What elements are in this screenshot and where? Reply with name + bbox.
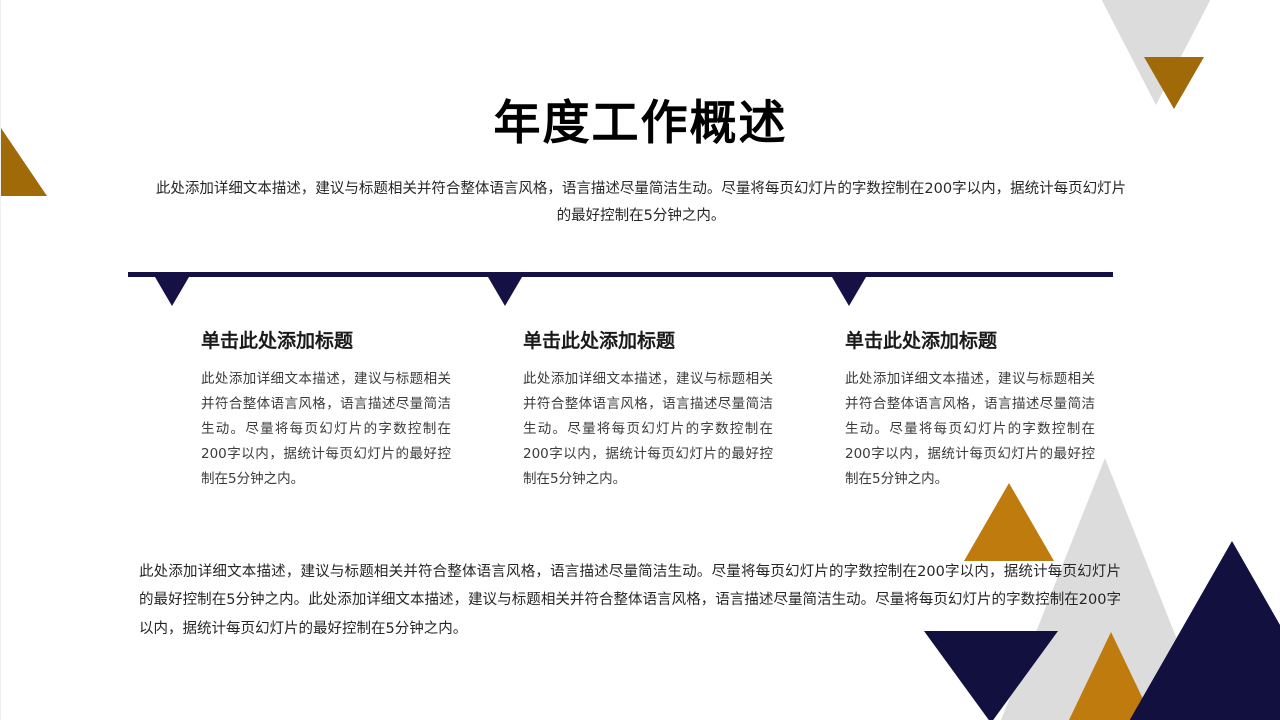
column-3-body: 此处添加详细文本描述，建议与标题相关并符合整体语言风格，语言描述尽量简洁生动。尽…	[845, 367, 1095, 492]
divider-marker-3-icon	[832, 277, 866, 306]
divider	[128, 272, 1113, 312]
slide-subtitle: 此处添加详细文本描述，建议与标题相关并符合整体语言风格，语言描述尽量简洁生动。尽…	[151, 176, 1131, 230]
column-2: 单击此处添加标题 此处添加详细文本描述，建议与标题相关并符合整体语言风格，语言描…	[523, 330, 773, 492]
page-title: 年度工作概述	[1, 97, 1280, 151]
column-1: 单击此处添加标题 此处添加详细文本描述，建议与标题相关并符合整体语言风格，语言描…	[201, 330, 451, 492]
column-2-body: 此处添加详细文本描述，建议与标题相关并符合整体语言风格，语言描述尽量简洁生动。尽…	[523, 367, 773, 492]
column-3-title: 单击此处添加标题	[845, 330, 1095, 353]
column-1-title: 单击此处添加标题	[201, 330, 451, 353]
column-3: 单击此处添加标题 此处添加详细文本描述，建议与标题相关并符合整体语言风格，语言描…	[845, 330, 1095, 492]
triangle-gold-up-lower-icon	[1069, 632, 1153, 720]
triangle-gray-down-icon	[1081, 0, 1231, 105]
footer-paragraph: 此处添加详细文本描述，建议与标题相关并符合整体语言风格，语言描述尽量简洁生动。尽…	[139, 558, 1121, 643]
divider-marker-1-icon	[155, 277, 189, 306]
column-2-title: 单击此处添加标题	[523, 330, 773, 353]
triangle-gold-up-upper-icon	[964, 483, 1054, 561]
column-1-body: 此处添加详细文本描述，建议与标题相关并符合整体语言风格，语言描述尽量简洁生动。尽…	[201, 367, 451, 492]
triangle-navy-down-icon	[924, 631, 1058, 720]
divider-marker-2-icon	[488, 277, 522, 306]
triangle-navy-up-icon	[1128, 541, 1280, 720]
content-columns: 单击此处添加标题 此处添加详细文本描述，建议与标题相关并符合整体语言风格，语言描…	[201, 330, 1151, 492]
divider-line	[128, 272, 1113, 277]
slide-canvas: 年度工作概述 此处添加详细文本描述，建议与标题相关并符合整体语言风格，语言描述尽…	[0, 0, 1280, 720]
